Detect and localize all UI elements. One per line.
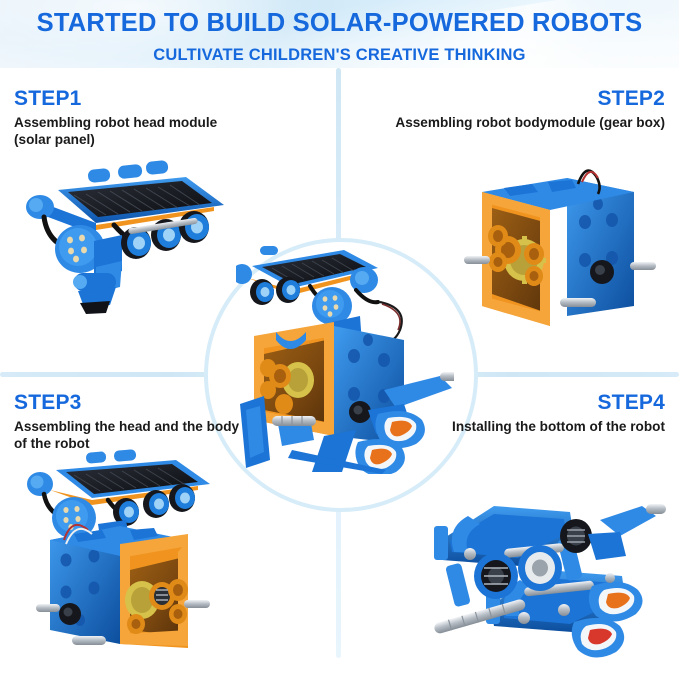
step-2-image [452, 140, 662, 345]
step-3-number: STEP3 [14, 392, 244, 414]
step-3-description: Assembling the head and the body of the … [14, 418, 244, 453]
step-2-label-group: STEP2 Assembling robot bodymodule (gear … [365, 88, 665, 131]
step-1-number: STEP1 [14, 88, 244, 110]
step-3-label-group: STEP3 Assembling the head and the body o… [14, 392, 244, 453]
step-1-description: Assembling robot head module (solar pane… [14, 114, 244, 149]
step-2-number: STEP2 [365, 88, 665, 110]
step-1-image [18, 155, 233, 320]
step-3-image [20, 448, 255, 668]
step-2-description: Assembling robot bodymodule (gear box) [365, 114, 665, 131]
step-1-label-group: STEP1 Assembling robot head module (sola… [14, 88, 244, 149]
step-4-image [424, 490, 669, 675]
center-image [236, 244, 454, 479]
page-title: STARTED TO BUILD SOLAR-POWERED ROBOTS [0, 0, 679, 37]
page-header: STARTED TO BUILD SOLAR-POWERED ROBOTS CU… [0, 0, 679, 68]
page-subtitle: CULTIVATE CHILDREN'S CREATIVE THINKING [0, 37, 679, 65]
